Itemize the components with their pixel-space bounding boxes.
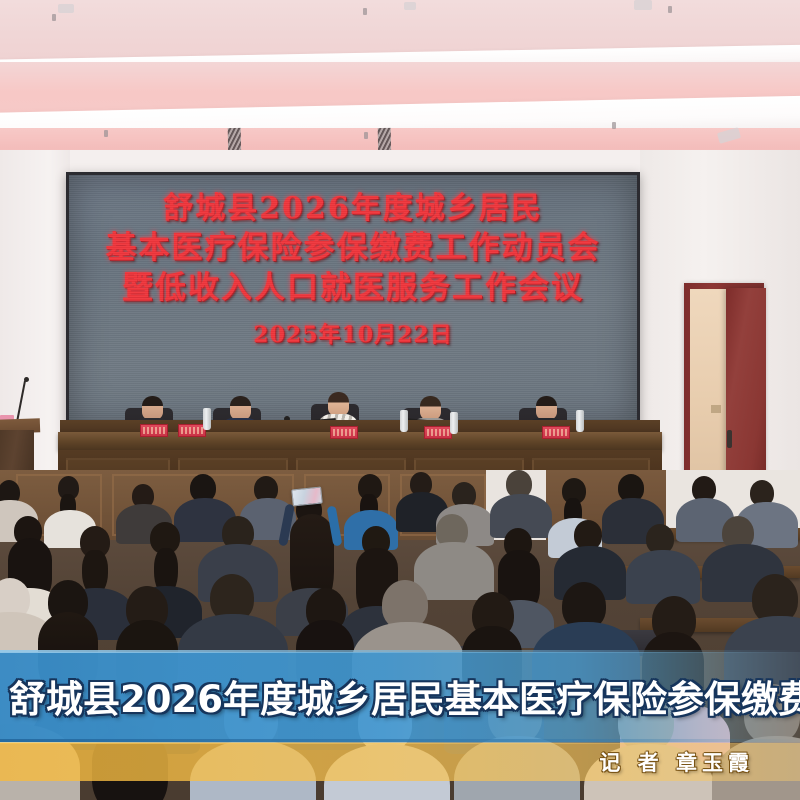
person-shoulders: [414, 542, 494, 600]
nameplate-1: [140, 424, 168, 437]
ceiling-fixture-2: [363, 8, 367, 15]
led-headline-line-1: 舒城县2026年度城乡居民: [69, 189, 637, 228]
nameplate-4: [424, 426, 452, 439]
led-text-block: 舒城县2026年度城乡居民 基本医疗保险参保缴费工作动员会 暨低收入人口就医服务…: [69, 189, 637, 349]
door-plate-icon: [711, 405, 721, 413]
nameplate-text: [143, 427, 165, 434]
lectern-microphone-head: [24, 377, 29, 382]
door-handle[interactable]: [727, 430, 732, 448]
led-headline-line-3: 暨低收入人口就医服务工作会议: [69, 268, 637, 308]
nameplate-text: [545, 429, 567, 436]
led-display-screen: 舒城县2026年度城乡居民 基本医疗保险参保缴费工作动员会 暨低收入人口就医服务…: [66, 172, 640, 430]
ceiling-light-3: [634, 0, 652, 10]
ceiling-fixture-1: [52, 14, 56, 21]
person-shoulders: [626, 550, 700, 604]
water-bottle-2: [400, 410, 408, 432]
lower-third-blue-top-highlight: [0, 650, 800, 653]
lower-third-headline: 舒城县2026年度城乡居民基本医疗保险参保缴费工作动员会召开: [9, 664, 799, 728]
ceiling-fixture-6: [668, 6, 672, 13]
ceiling-fixture-4: [364, 132, 368, 139]
nameplate-5: [542, 426, 570, 439]
nameplate-text: [181, 427, 203, 434]
ceiling-fixture-5: [612, 122, 616, 129]
water-bottle-4: [576, 410, 584, 432]
ceiling-light-2: [404, 2, 416, 10]
dais-head: [328, 392, 349, 416]
ceiling-fixture-3: [104, 130, 108, 137]
nameplate-2: [178, 424, 206, 437]
ceiling-light-1: [58, 4, 74, 13]
dais-head: [230, 396, 251, 420]
nameplate-3: [330, 426, 358, 439]
lower-third-graphic: 舒城县2026年度城乡居民基本医疗保险参保缴费工作动员会召开 记 者 章玉霞: [0, 650, 800, 800]
nameplate-text: [427, 429, 449, 436]
reporter-credit: 记 者 章玉霞: [599, 745, 754, 779]
smartphone[interactable]: [291, 486, 323, 506]
dais-head: [536, 396, 557, 420]
water-bottle-1: [203, 408, 211, 430]
video-frame: 舒城县2026年度城乡居民 基本医疗保险参保缴费工作动员会 暨低收入人口就医服务…: [0, 0, 800, 800]
led-date-text: 2025年10月22日: [69, 321, 637, 350]
nameplate-text: [333, 429, 355, 436]
dais-head: [420, 396, 441, 420]
dais-head: [142, 396, 163, 420]
led-headline-line-2: 基本医疗保险参保缴费工作动员会: [69, 228, 637, 268]
water-bottle-3: [450, 412, 458, 434]
